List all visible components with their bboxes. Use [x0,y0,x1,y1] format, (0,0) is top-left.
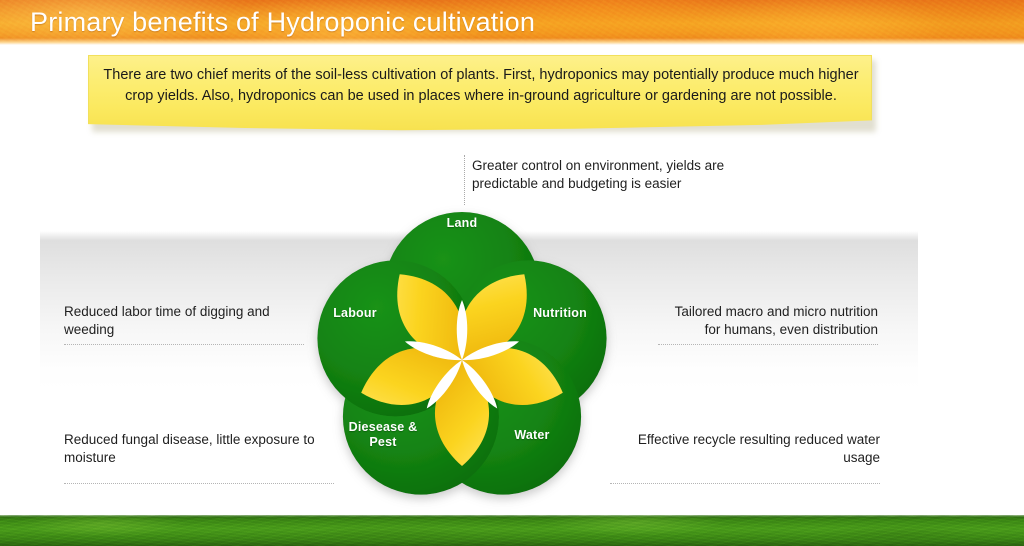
flower-diagram-svg [297,192,627,512]
annotation-water-text: Effective recycle resulting reduced wate… [610,431,880,467]
annotation-disease-rule [64,483,334,484]
annotation-water-rule [610,483,880,484]
page-title: Primary benefits of Hydroponic cultivati… [30,2,930,42]
hydroponics-benefits-flower-diagram: Land Nutrition Water Diesease & Pest Lab… [297,192,627,512]
annotation-water: Effective recycle resulting reduced wate… [610,431,880,484]
annotation-nutrition: Tailored macro and micro nutrition for h… [658,303,878,345]
grass-top-highlight [0,515,1024,517]
annotation-disease: Reduced fungal disease, little exposure … [64,431,334,484]
slide-canvas: Primary benefits of Hydroponic cultivati… [0,0,1024,546]
annotation-labour-rule [64,344,304,345]
annotation-labour: Reduced labor time of digging and weedin… [64,303,304,345]
annotation-nutrition-rule [658,344,878,345]
intro-callout-box: There are two chief merits of the soil-l… [88,55,872,131]
annotation-nutrition-text: Tailored macro and micro nutrition for h… [658,303,878,339]
intro-callout-text: There are two chief merits of the soil-l… [103,65,859,106]
grass-texture [0,515,1024,546]
footer-grass-strip [0,515,1024,546]
annotation-land-text: Greater control on environment, yields a… [472,157,752,193]
annotation-land: Greater control on environment, yields a… [472,157,752,193]
annotation-disease-text: Reduced fungal disease, little exposure … [64,431,334,467]
annotation-labour-text: Reduced labor time of digging and weedin… [64,303,304,339]
